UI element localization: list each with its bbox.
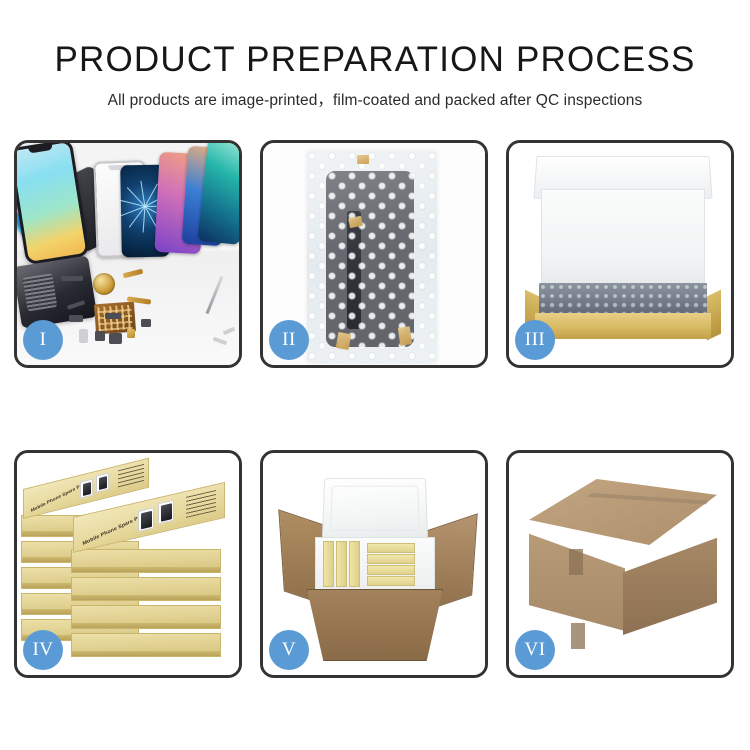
step-badge-5: V (269, 630, 309, 670)
carton-left-face (529, 523, 625, 631)
front-iphone-display (17, 143, 90, 265)
box-label-lines-rear (118, 464, 144, 488)
stack-box-front-3 (71, 605, 221, 629)
gold-contact (127, 329, 135, 338)
phone-back-housing (17, 255, 97, 328)
retail-box-h-2 (367, 554, 415, 564)
stack-box-front-4 (71, 633, 221, 657)
retail-box-v-3 (349, 541, 360, 587)
retail-box-h-4 (367, 576, 415, 586)
retail-box-v-2 (336, 541, 347, 587)
flex-cable-1 (123, 269, 144, 279)
sim-tray (79, 329, 88, 343)
process-step-1: I (14, 140, 242, 368)
bubble-texture (307, 151, 437, 363)
retail-box-h-1 (367, 543, 415, 553)
step-badge-4: IV (23, 630, 63, 670)
process-step-5: V (260, 450, 488, 678)
page-subtitle: All products are image-printed，film-coat… (0, 88, 750, 110)
carton-tape-lower (571, 623, 585, 649)
tape-top (357, 155, 369, 164)
box-label-image-rear-2 (96, 473, 109, 493)
step-badge-2: II (269, 320, 309, 360)
small-part-5 (109, 333, 122, 344)
box-label-image-front-2 (158, 500, 174, 525)
step-badge-1: I (23, 320, 63, 360)
process-step-6: VI (506, 450, 734, 678)
stack-box-front-2 (71, 577, 221, 601)
box-front-panel (535, 313, 711, 339)
small-part-6 (105, 313, 121, 319)
small-part-3 (69, 315, 83, 322)
box-label-image-rear-1 (80, 479, 93, 499)
carton-body (307, 589, 443, 661)
crack-pattern (145, 206, 146, 207)
foam-box-lid (322, 478, 428, 539)
step-badge-6: VI (515, 630, 555, 670)
small-part-1 (61, 276, 83, 281)
process-step-grid: I II (14, 140, 736, 678)
process-step-3: III (506, 140, 734, 368)
screw-2 (223, 327, 236, 336)
white-foam-pad (541, 189, 705, 287)
box-label-image-front-1 (138, 507, 154, 532)
process-step-4: Mobile Phone Spare Parts Mobile Phone Sp… (14, 450, 242, 678)
retail-box-v-1 (323, 541, 334, 587)
small-part-4 (95, 331, 105, 341)
screw-1 (213, 337, 228, 346)
tape-bottom-right (398, 326, 412, 345)
speaker-module (93, 273, 115, 295)
bubble-wrapped-contents (539, 283, 707, 315)
retail-box-h-3 (367, 565, 415, 575)
page-title: PRODUCT PREPARATION PROCESS (0, 40, 750, 80)
tape-bottom-left (336, 332, 352, 350)
product-preparation-process-page: PRODUCT PREPARATION PROCESS All products… (0, 0, 750, 750)
stack-box-front-1 (71, 549, 221, 573)
box-label-lines-front (186, 490, 216, 518)
tweezers-tool (206, 276, 224, 314)
bubble-wrap-bag (307, 151, 437, 363)
small-part-7 (141, 319, 151, 327)
step-badge-3: III (515, 320, 555, 360)
carton-tape-upper (569, 549, 583, 575)
carton-top-face (529, 479, 717, 545)
page-header: PRODUCT PREPARATION PROCESS All products… (0, 0, 750, 110)
carton-right-face (623, 527, 717, 635)
process-step-2: II (260, 140, 488, 368)
